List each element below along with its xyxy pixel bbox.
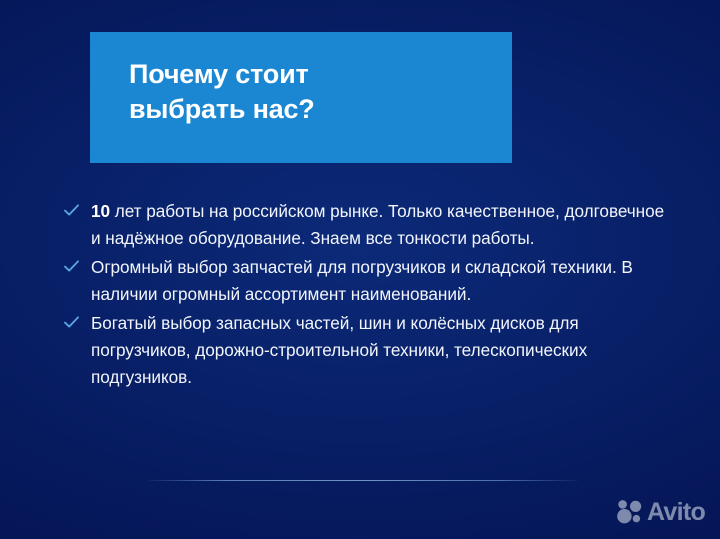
benefits-list: 10 лет работы на российском рынке. Тольк… <box>62 198 674 393</box>
avito-watermark: Avito <box>616 496 705 528</box>
list-item-text: Богатый выбор запасных частей, шин и кол… <box>91 313 587 386</box>
check-icon <box>63 202 80 219</box>
list-item-text: Огромный выбор запчастей для погрузчиков… <box>91 257 633 304</box>
check-icon <box>63 314 80 331</box>
list-item: Огромный выбор запчастей для погрузчиков… <box>62 254 674 307</box>
title-banner: Почему стоит выбрать нас? <box>90 32 512 163</box>
list-item-lead: 10 <box>91 201 110 221</box>
page-title: Почему стоит выбрать нас? <box>129 57 489 127</box>
check-icon <box>63 258 80 275</box>
avito-dots-icon <box>616 499 645 525</box>
section-divider <box>148 480 578 481</box>
list-item-text: лет работы на российском рынке. Только к… <box>91 201 664 248</box>
list-item: Богатый выбор запасных частей, шин и кол… <box>62 310 674 390</box>
avito-wordmark: Avito <box>647 499 705 525</box>
slide-canvas: Почему стоит выбрать нас? 10 лет работы … <box>0 0 720 539</box>
list-item: 10 лет работы на российском рынке. Тольк… <box>62 198 674 251</box>
